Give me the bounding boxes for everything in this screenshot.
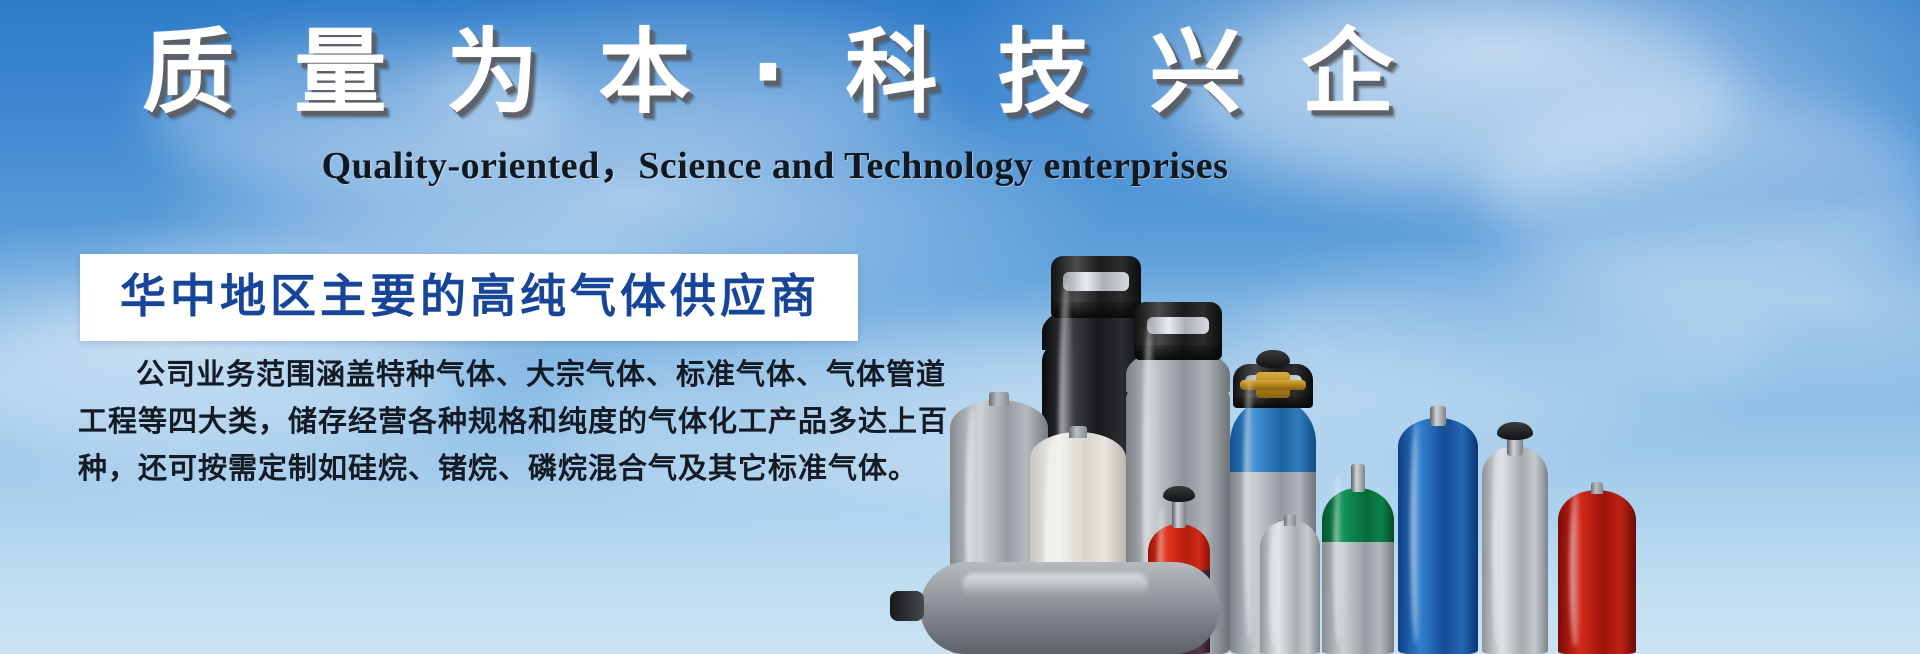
paragraph-line: 种，还可按需定制如硅烷、锗烷、磷烷混合气及其它标准气体。 [78, 446, 868, 493]
banner-paragraph: 公司业务范围涵盖特种气体、大宗气体、标准气体、气体管道 工程等四大类，储存经营各… [78, 352, 868, 493]
gas-cylinder-aluminium-tall [1482, 434, 1548, 654]
gas-cylinder-red-tall [1558, 482, 1636, 654]
tagline-text: 华中地区主要的高纯气体供应商 [120, 270, 820, 323]
tagline-box: 华中地区主要的高纯气体供应商 [80, 254, 858, 341]
gas-cylinder-group [930, 120, 1920, 654]
paragraph-line: 公司业务范围涵盖特种气体、大宗气体、标准气体、气体管道 [78, 352, 868, 399]
gas-cylinder-aluminium-small [1260, 514, 1320, 654]
gas-cylinder-blue-tall [1398, 406, 1478, 654]
banner-headline: 质 量 为 本 · 科 技 兴 企 [0, 24, 1550, 122]
promo-banner: 质 量 为 本 · 科 技 兴 企 Quality-oriented，Scien… [0, 0, 1920, 654]
paragraph-line: 工程等四大类，储存经营各种规格和纯度的气体化工产品多达上百 [78, 399, 868, 446]
gas-cylinder-green [1322, 464, 1394, 654]
gas-cylinder-lying-horizontal [920, 562, 1220, 654]
